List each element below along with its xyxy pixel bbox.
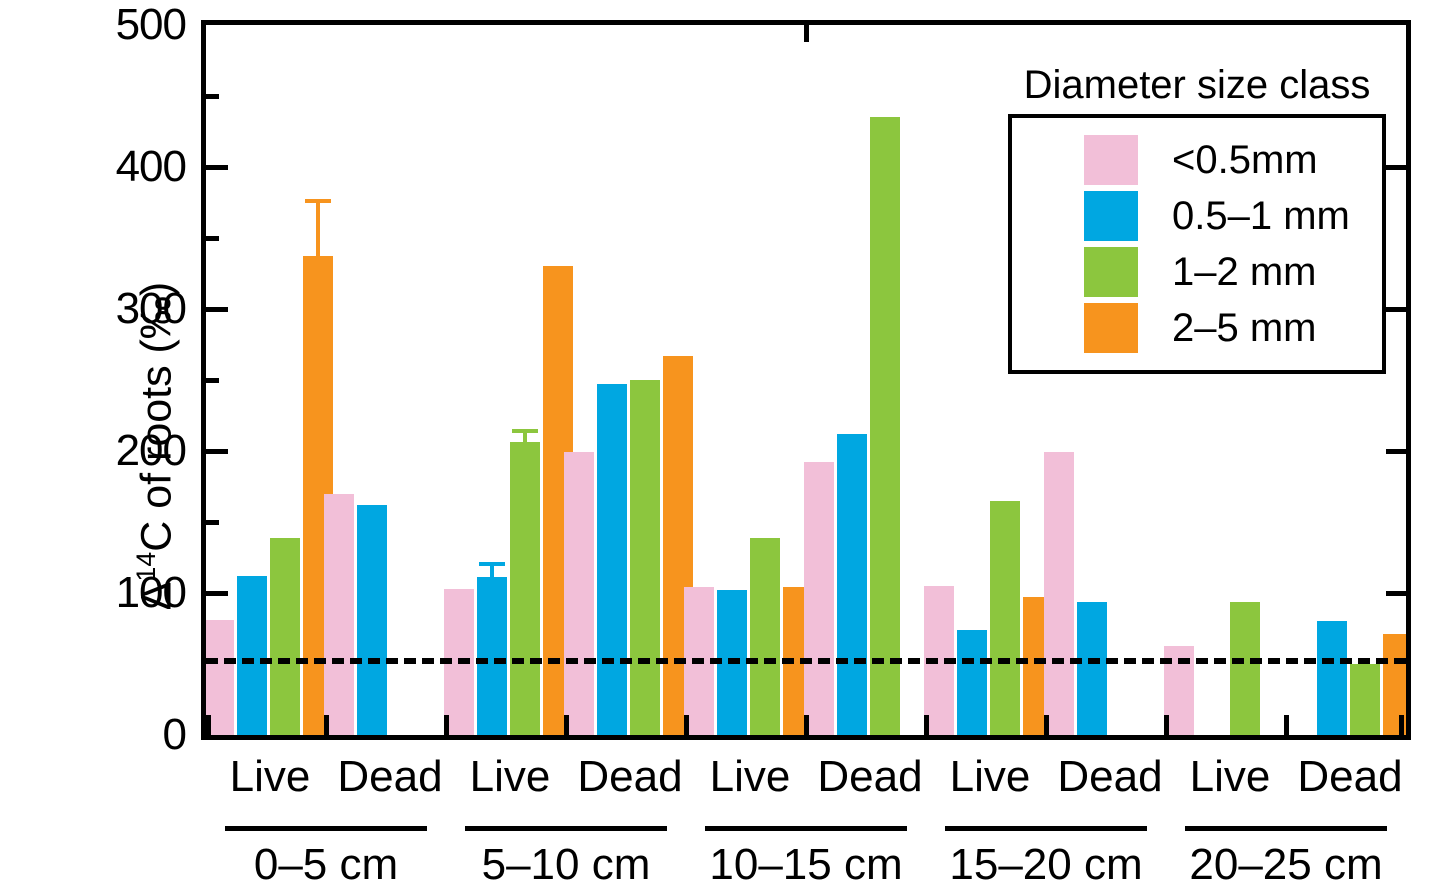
y-axis-label-100: 100 — [116, 568, 186, 618]
legend: Diameter size class <0.5mm0.5–1 mm1–2 mm… — [1008, 63, 1386, 374]
error-bar-cap — [479, 562, 505, 566]
y-axis-label-400: 400 — [116, 142, 186, 192]
legend-box: <0.5mm0.5–1 mm1–2 mm2–5 mm — [1008, 114, 1386, 374]
bar — [237, 576, 267, 735]
top-axis-tick — [804, 25, 809, 42]
y-axis-tick-300 — [206, 307, 228, 312]
legend-item-label: <0.5mm — [1172, 138, 1318, 183]
bar — [1044, 452, 1074, 735]
y-axis-right-tick-300 — [1386, 307, 1406, 312]
bar — [804, 462, 834, 735]
x-axis-group-rule — [465, 826, 667, 831]
x-axis-group-rule — [705, 826, 907, 831]
bar — [1230, 602, 1260, 735]
x-axis-tick — [1044, 715, 1049, 735]
x-axis-status-label: Dead — [1057, 752, 1162, 802]
y-axis-right-tick-400 — [1386, 165, 1406, 170]
x-axis-tick — [444, 715, 449, 735]
legend-title: Diameter size class — [1008, 63, 1386, 108]
chart-figure: Δ14C of roots (‰) 5004003002001000 LiveD… — [0, 0, 1441, 892]
x-axis-group-label: 15–20 cm — [949, 840, 1142, 890]
bar — [324, 494, 354, 735]
y-axis-right-tick-100 — [1386, 591, 1406, 596]
error-bar-stem — [316, 203, 320, 257]
legend-swatch — [1084, 247, 1138, 297]
x-axis-group-label: 0–5 cm — [254, 840, 398, 890]
legend-item[interactable]: <0.5mm — [1022, 132, 1372, 188]
y-axis-tick-100 — [206, 591, 228, 596]
legend-item[interactable]: 1–2 mm — [1022, 244, 1372, 300]
bar — [477, 577, 507, 735]
x-axis-status-label: Dead — [337, 752, 442, 802]
legend-swatch — [1084, 135, 1138, 185]
legend-item-label: 2–5 mm — [1172, 306, 1317, 351]
x-axis-group-rule — [1185, 826, 1387, 831]
error-bar-cap — [512, 429, 538, 433]
x-axis-group-rule — [945, 826, 1147, 831]
x-axis-status-label: Live — [230, 752, 311, 802]
x-axis-tick — [684, 715, 689, 735]
x-axis-tick — [564, 715, 569, 735]
x-axis-status-label: Live — [950, 752, 1031, 802]
error-bar-stem — [490, 566, 494, 577]
x-axis-group-label: 10–15 cm — [709, 840, 902, 890]
y-axis-label-300: 300 — [116, 284, 186, 334]
legend-swatch — [1084, 191, 1138, 241]
x-axis-tick — [1284, 715, 1289, 735]
bar — [990, 501, 1020, 735]
legend-item[interactable]: 0.5–1 mm — [1022, 188, 1372, 244]
bar — [510, 442, 540, 735]
x-axis-tick — [206, 715, 211, 735]
y-axis-label-500: 500 — [116, 0, 186, 50]
x-axis-status-label: Live — [710, 752, 791, 802]
y-axis-tick-200 — [206, 449, 228, 454]
x-axis-group-rule — [225, 826, 427, 831]
x-axis-status-label: Dead — [1297, 752, 1402, 802]
x-axis-status-label: Live — [470, 752, 551, 802]
x-axis-status-label: Live — [1190, 752, 1271, 802]
x-axis-tick — [804, 715, 809, 735]
bar — [630, 380, 660, 735]
bar — [837, 434, 867, 735]
legend-swatch — [1084, 303, 1138, 353]
y-axis-tick-400 — [206, 165, 228, 170]
bar — [564, 452, 594, 735]
error-bar-cap — [305, 199, 331, 203]
bar — [870, 117, 900, 735]
legend-item-label: 1–2 mm — [1172, 250, 1317, 295]
bar — [750, 538, 780, 735]
bar — [1350, 664, 1380, 735]
x-axis-group-label: 5–10 cm — [482, 840, 651, 890]
y-axis-minor-tick-150 — [206, 520, 219, 525]
x-axis-tick — [1399, 715, 1404, 735]
x-axis-tick — [1164, 715, 1169, 735]
y-axis-minor-tick-350 — [206, 236, 219, 241]
x-axis-status-label: Dead — [577, 752, 682, 802]
y-axis-minor-tick-250 — [206, 378, 219, 383]
x-axis-tick — [324, 715, 329, 735]
bar — [270, 538, 300, 735]
legend-item[interactable]: 2–5 mm — [1022, 300, 1372, 356]
y-axis-minor-tick-450 — [206, 94, 219, 99]
x-axis-status-label: Dead — [817, 752, 922, 802]
bar — [357, 505, 387, 735]
bar — [957, 630, 987, 735]
error-bar-stem — [523, 433, 527, 443]
y-axis-right-tick-200 — [1386, 449, 1406, 454]
x-axis-tick — [924, 715, 929, 735]
legend-item-label: 0.5–1 mm — [1172, 194, 1350, 239]
bar — [597, 384, 627, 735]
y-axis-label-0: 0 — [163, 710, 186, 760]
y-axis-label-200: 200 — [116, 426, 186, 476]
bar — [1317, 621, 1347, 735]
reference-line — [206, 658, 1406, 664]
bar — [1077, 602, 1107, 735]
x-axis-group-label: 20–25 cm — [1189, 840, 1382, 890]
